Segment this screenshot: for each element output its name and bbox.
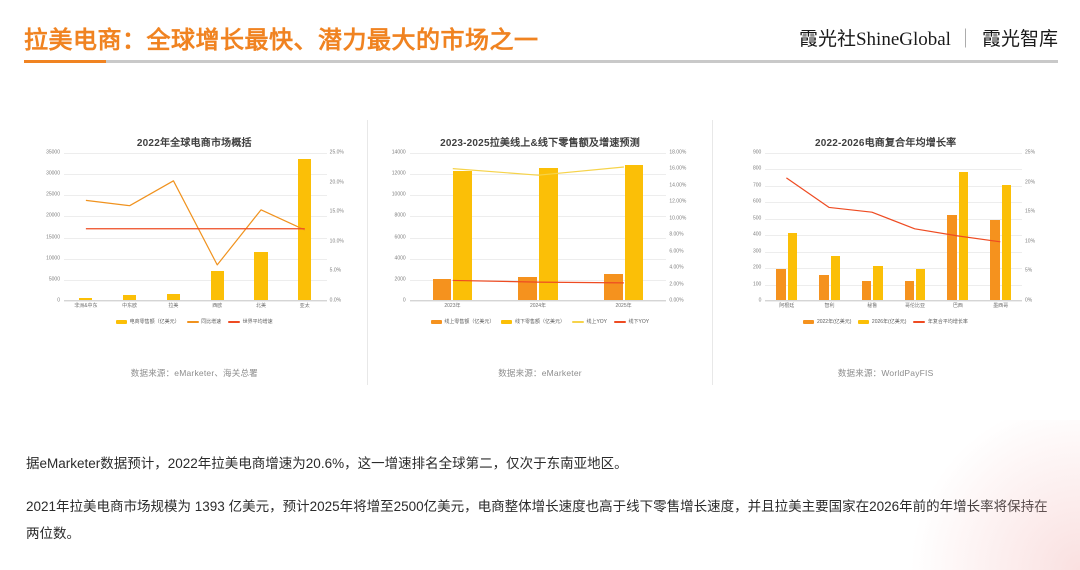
x-axis-tick-label: 智利 [824,304,834,309]
axis-tick-label: 20.0% [330,180,364,185]
x-axis-tick-label: 2025年 [616,304,632,309]
legend-item[interactable]: 年复合平均增长率 [913,318,968,325]
axis-baseline [64,300,327,301]
x-axis-tick-label: 中东欧 [122,304,137,309]
axis-baseline [410,300,667,301]
legend-item[interactable]: 线下零售额（亿美元） [501,318,565,325]
legend-item[interactable]: 世界平均增速 [228,318,273,325]
axis-tick-label: 12.00% [669,200,709,205]
gridline [64,301,327,302]
chart-title: 2022年全球电商市场概括 [22,134,367,149]
body-paragraph-1: 据eMarketer数据预计，2022年拉美电商增速为20.6%，这一增速排名全… [26,450,1054,477]
axis-tick-label: 8000 [372,214,406,219]
chart-card-global-overview: 2022年全球电商市场概括 35000300002500020000150001… [22,120,368,385]
header-rule-accent [24,60,106,63]
axis-tick-label: 15.0% [330,210,364,215]
legend-label: 线上零售额（亿美元） [444,318,494,325]
y-axis-right: 25.0%20.0%15.0%10.0%5.0%0.0% [330,153,364,301]
legend-label: 年复合平均增长率 [928,318,968,325]
axis-tick-label: 35000 [26,151,60,156]
chart-legend: 线上零售额（亿美元）线下零售额（亿美元）线上YOY线下YOY [368,318,713,325]
brand-suffix: 霞光智库 [982,29,1058,50]
axis-tick-label: 5% [1025,269,1055,274]
chart-source: 数据来源：WorldPayFIS [713,367,1058,379]
x-axis-tick-label: 西欧 [212,304,222,309]
slide-page: 拉美电商：全球增长最快、潜力最大的市场之一 霞光社ShineGlobal｜霞光智… [0,0,1080,570]
axis-tick-label: 5000 [26,277,60,282]
axis-tick-label: 12000 [372,172,406,177]
legend-item[interactable]: 2022年(亿美元) [803,318,851,325]
legend-line-swatch-icon [913,321,925,323]
axis-tick-label: 8.00% [669,233,709,238]
x-axis-tick-label: 巴西 [953,304,963,309]
legend-item[interactable]: 线上YOY [572,318,607,325]
axis-tick-label: 0 [26,299,60,304]
brand-name-cn: 霞光社 [799,29,856,50]
axis-tick-label: 700 [731,183,761,188]
y-axis-left: 14000120001000080006000400020000 [372,153,406,301]
header-rule [24,60,1058,63]
legend-label: 线下YOY [629,318,650,325]
x-axis-tick-label: 2023年 [444,304,460,309]
legend-line-swatch-icon [614,321,626,323]
chart-plot-area: 9008007006005004003002001000 25%20%15%10… [713,153,1058,301]
legend-label: 同比增速 [201,318,221,325]
legend-bar-swatch-icon [858,320,869,324]
chart-title: 2022-2026电商复合年均增长率 [713,134,1058,149]
y-axis-left: 35000300002500020000150001000050000 [26,153,60,301]
axis-tick-label: 800 [731,167,761,172]
axis-tick-label: 6000 [372,235,406,240]
axis-tick-label: 20% [1025,180,1055,185]
axis-tick-label: 0 [372,299,406,304]
axis-tick-label: 15% [1025,210,1055,215]
line-series [452,167,623,175]
x-axis-labels: 非洲&中东中东欧拉美西欧北美亚太 [64,304,327,316]
axis-tick-label: 2000 [372,277,406,282]
legend-label: 2026年(亿美元) [872,318,906,325]
chart-source: 数据来源：eMarketer [368,367,713,379]
line-series [787,178,1001,242]
axis-tick-label: 10000 [372,193,406,198]
axis-tick-label: 10.0% [330,239,364,244]
y-axis-right: 25%20%15%10%5%0% [1025,153,1055,301]
axis-tick-label: 5.0% [330,269,364,274]
axis-tick-label: 10.00% [669,216,709,221]
x-axis-tick-label: 北美 [256,304,266,309]
header-rule-base [24,60,1058,63]
legend-bar-swatch-icon [116,320,127,324]
axis-tick-label: 300 [731,249,761,254]
axis-tick-label: 30000 [26,172,60,177]
x-axis-tick-label: 亚太 [300,304,310,309]
axis-tick-label: 14.00% [669,183,709,188]
legend-item[interactable]: 线上零售额（亿美元） [431,318,495,325]
axis-tick-label: 25% [1025,151,1055,156]
brand-name-en: ShineGlobal [856,29,951,50]
legend-item[interactable]: 同比增速 [187,318,222,325]
y-axis-left: 9008007006005004003002001000 [731,153,761,301]
chart-grid [765,153,1022,301]
x-axis-tick-label: 哥伦比亚 [905,304,925,309]
chart-band: 2022年全球电商市场概括 35000300002500020000150001… [22,120,1058,385]
axis-tick-label: 10% [1025,239,1055,244]
x-axis-tick-label: 秘鲁 [867,304,877,309]
axis-tick-label: 25.0% [330,151,364,156]
legend-line-swatch-icon [572,321,584,323]
x-axis-tick-label: 非洲&中东 [74,304,97,309]
axis-tick-label: 0% [1025,299,1055,304]
axis-baseline [765,300,1022,301]
chart-card-cagr: 2022-2026电商复合年均增长率 900800700600500400300… [713,120,1058,385]
slide-header: 拉美电商：全球增长最快、潜力最大的市场之一 霞光社ShineGlobal｜霞光智… [0,0,1080,78]
legend-label: 电商零售额（亿美元） [130,318,180,325]
axis-tick-label: 10000 [26,256,60,261]
legend-item[interactable]: 2026年(亿美元) [858,318,906,325]
chart-plot-area: 14000120001000080006000400020000 18.00%1… [368,153,713,301]
axis-tick-label: 20000 [26,214,60,219]
x-axis-labels: 阿根廷智利秘鲁哥伦比亚巴西墨西哥 [765,304,1022,316]
body-paragraph-2: 2021年拉美电商市场规模为 1393 亿美元，预计2025年将增至2500亿美… [26,493,1054,547]
x-axis-tick-label: 拉美 [168,304,178,309]
legend-bar-swatch-icon [431,320,442,324]
chart-source: 数据来源：eMarketer、海关总署 [22,367,367,379]
legend-bar-swatch-icon [501,320,512,324]
axis-tick-label: 18.00% [669,151,709,156]
axis-tick-label: 4.00% [669,266,709,271]
axis-tick-label: 16.00% [669,167,709,172]
axis-tick-label: 600 [731,200,761,205]
axis-tick-label: 0 [731,299,761,304]
legend-item[interactable]: 电商零售额（亿美元） [116,318,180,325]
legend-label: 2022年(亿美元) [817,318,851,325]
legend-item[interactable]: 线下YOY [614,318,649,325]
chart-card-latam-online-offline: 2023-2025拉美线上&线下零售额及增速预测 140001200010000… [368,120,714,385]
brand-lockup: 霞光社ShineGlobal｜霞光智库 [799,24,1058,51]
brand-divider: ｜ [956,29,975,50]
legend-label: 线下零售额（亿美元） [515,318,565,325]
chart-lines [64,153,327,301]
legend-bar-swatch-icon [803,320,814,324]
chart-plot-area: 35000300002500020000150001000050000 25.0… [22,153,367,301]
axis-tick-label: 6.00% [669,249,709,254]
axis-tick-label: 4000 [372,256,406,261]
y-axis-right: 18.00%16.00%14.00%12.00%10.00%8.00%6.00%… [669,153,709,301]
x-axis-labels: 2023年2024年2025年 [410,304,667,316]
axis-tick-label: 0.00% [669,299,709,304]
axis-tick-label: 25000 [26,193,60,198]
chart-grid [410,153,667,301]
legend-line-swatch-icon [228,321,240,323]
chart-title: 2023-2025拉美线上&线下零售额及增速预测 [368,134,713,149]
chart-legend: 电商零售额（亿美元）同比增速世界平均增速 [22,318,367,325]
axis-tick-label: 14000 [372,151,406,156]
line-series [452,280,623,282]
x-axis-tick-label: 墨西哥 [993,304,1008,309]
axis-tick-label: 900 [731,151,761,156]
legend-line-swatch-icon [187,321,199,323]
gridline [410,301,667,302]
page-title: 拉美电商：全球增长最快、潜力最大的市场之一 [24,20,539,55]
x-axis-tick-label: 阿根廷 [779,304,794,309]
axis-tick-label: 0.0% [330,299,364,304]
axis-tick-label: 2.00% [669,282,709,287]
axis-tick-label: 400 [731,233,761,238]
legend-label: 世界平均增速 [243,318,273,325]
line-series [86,181,305,265]
gridline [765,301,1022,302]
axis-tick-label: 100 [731,282,761,287]
axis-tick-label: 200 [731,266,761,271]
chart-grid [64,153,327,301]
axis-tick-label: 15000 [26,235,60,240]
body-text: 据eMarketer数据预计，2022年拉美电商增速为20.6%，这一增速排名全… [26,450,1054,547]
axis-tick-label: 500 [731,216,761,221]
chart-lines [765,153,1022,301]
chart-legend: 2022年(亿美元)2026年(亿美元)年复合平均增长率 [713,318,1058,325]
chart-lines [410,153,667,301]
legend-label: 线上YOY [586,318,607,325]
x-axis-tick-label: 2024年 [530,304,546,309]
